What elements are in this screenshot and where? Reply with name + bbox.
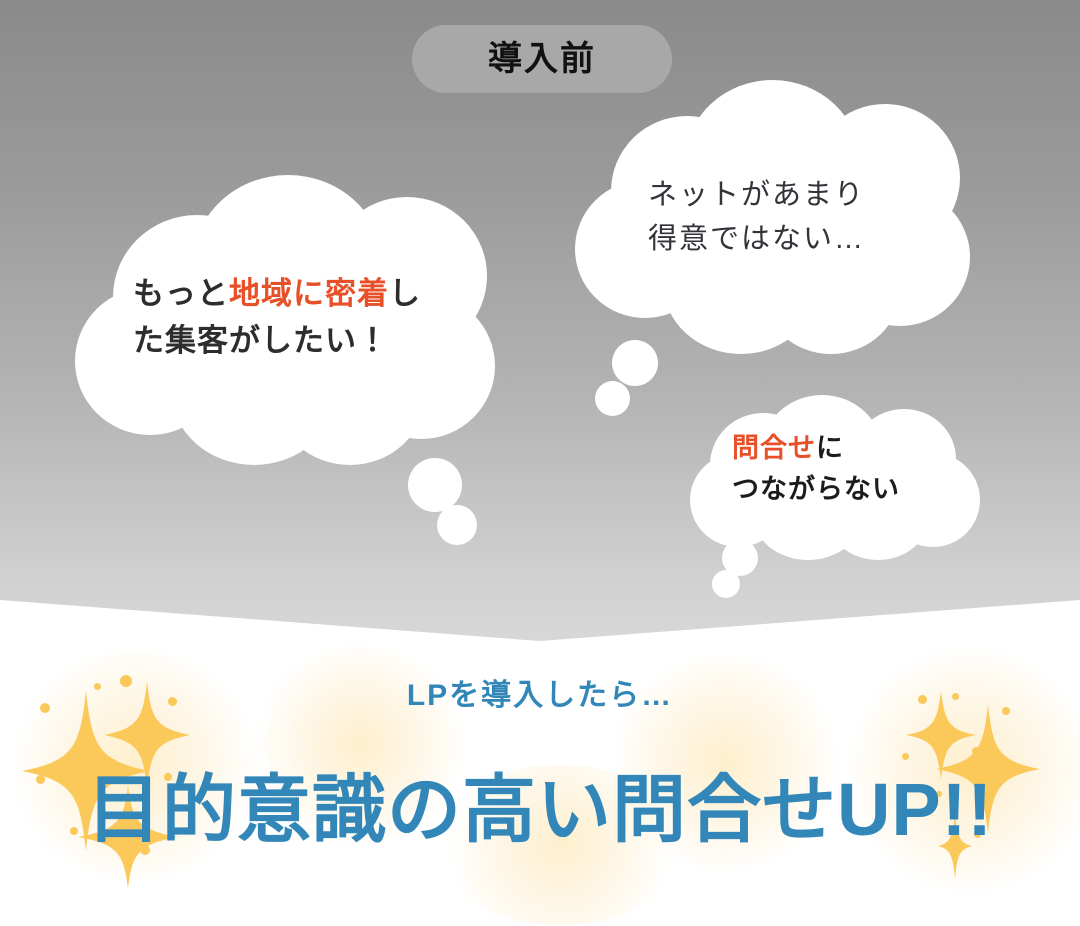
thought-bubble-internet-skill: ネットがあまり得意ではない…: [575, 80, 970, 355]
bubble-tail-dot-large: [612, 340, 658, 386]
thought-bubble-no-inquiry: 問合せにつながらない: [690, 395, 980, 560]
after-result-section: LPを導入したら…: [0, 645, 1080, 926]
bubble-tail-dot-large: [408, 458, 462, 512]
bubble-text-no-inquiry: 問合せにつながらない: [732, 428, 962, 509]
bubble-tail-dot-small: [437, 505, 477, 545]
slide-canvas: 導入前 もっと地域に密着した集客がしたい！ ネットがあまり得意ではない…: [0, 0, 1080, 926]
bubble-text-local-marketing: もっと地域に密着した集客がしたい！: [133, 271, 463, 364]
bubble-tail-dot-small: [595, 381, 630, 416]
bubble-line1-part1: もっと: [133, 276, 229, 311]
bubble-line2: 得意ではない…: [648, 223, 865, 255]
bubble-line1-highlight: 問合せ: [732, 433, 816, 463]
thought-bubble-local-marketing: もっと地域に密着した集客がしたい！: [75, 175, 495, 465]
result-sub-headline: LPを導入したら…: [0, 670, 1080, 714]
bubble-tail-dot-small: [712, 570, 740, 598]
bubble-line2: た集客がしたい！: [133, 323, 389, 358]
phase-badge-label: 導入前: [488, 42, 596, 76]
bubble-line2: つながらない: [732, 474, 900, 504]
bubble-line1-highlight: 地域に密着: [229, 276, 389, 311]
bubble-line1-part2: に: [816, 433, 844, 463]
bubble-line1-part2: し: [389, 276, 421, 311]
bubble-text-internet-skill: ネットがあまり得意ではない…: [648, 174, 918, 261]
bubble-line1: ネットがあまり: [648, 179, 865, 211]
result-main-headline: 目的意識の高い問合せUP!!: [0, 750, 1080, 857]
